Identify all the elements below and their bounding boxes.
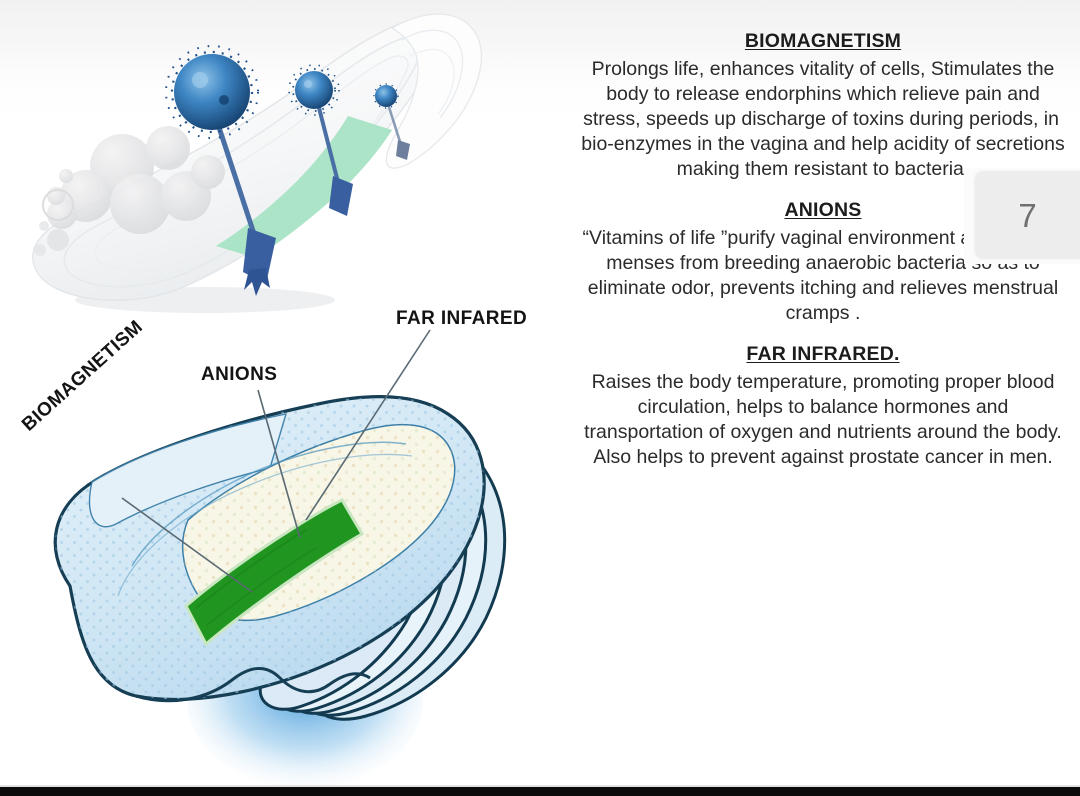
- section-body-biomagnetism: Prolongs life, enhances vitality of cell…: [574, 57, 1072, 182]
- section-title-biomagnetism: BIOMAGNETISM: [574, 30, 1072, 54]
- bottom-black-bar: [0, 787, 1080, 796]
- callout-label-far-infared: FAR INFARED: [396, 308, 527, 330]
- product-illustration: FAR INFARED ANIONS BIOMAGNETISM: [0, 0, 566, 788]
- benefits-text-column: BIOMAGNETISM Prolongs life, enhances vit…: [566, 0, 1080, 788]
- illustration-svg: [0, 0, 566, 788]
- virus-body-medium: [295, 71, 333, 109]
- bubble: [191, 155, 225, 189]
- virus-highlight: [192, 72, 208, 88]
- page-number-value: 7: [1018, 199, 1036, 232]
- virus-highlight: [304, 80, 312, 88]
- bubble: [59, 169, 73, 183]
- bubble: [47, 229, 69, 251]
- section-biomagnetism: BIOMAGNETISM Prolongs life, enhances vit…: [574, 30, 1072, 182]
- section-far-infrared: FAR INFRARED. Raises the body temperatur…: [574, 343, 1072, 470]
- bubble: [110, 174, 170, 234]
- infographic-page: FAR INFARED ANIONS BIOMAGNETISM BIOMAGNE…: [0, 0, 1080, 796]
- virus-speck: [219, 95, 229, 105]
- bubble: [39, 221, 49, 231]
- bubble: [146, 126, 190, 170]
- virus-body-large: [174, 54, 250, 130]
- virus-body-small: [375, 85, 397, 107]
- section-title-far-infrared: FAR INFRARED.: [574, 343, 1072, 367]
- section-body-far-infrared: Raises the body temperature, promoting p…: [574, 370, 1072, 470]
- pad-stack-group: [55, 397, 504, 788]
- bubble: [34, 244, 46, 256]
- page-number-badge: 7: [975, 171, 1080, 259]
- callout-label-anions: ANIONS: [201, 364, 277, 386]
